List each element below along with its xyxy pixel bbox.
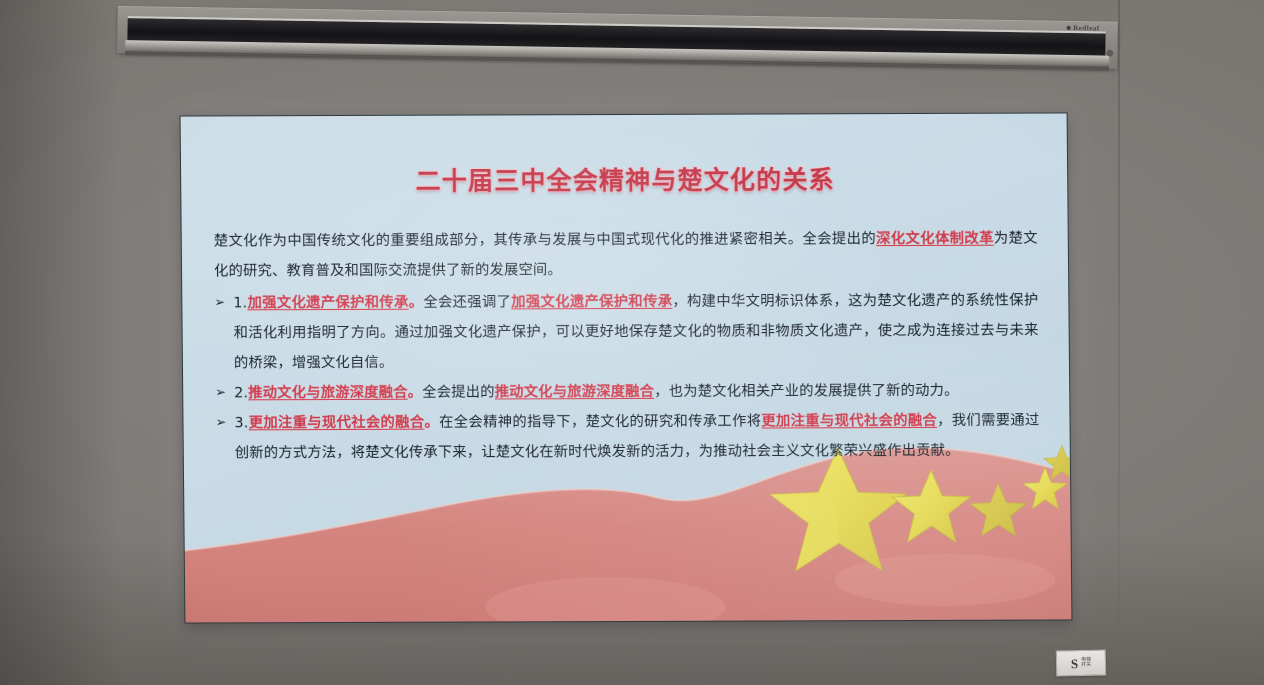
bullet-2-text: 2.推动文化与旅游深度融合。全会提出的推动文化与旅游深度融合，也为楚文化相关产业… — [234, 376, 1039, 409]
arrow-bullet-icon: ➢ — [215, 378, 234, 408]
intro-highlight: 深化文化体制改革 — [876, 231, 994, 247]
sticker-mini-bottom: 开关 — [1081, 662, 1091, 668]
bullet-2-number: 2. — [234, 385, 248, 401]
bullet-3-text: 3.更加注重与现代社会的融合。在全会精神的指导下，楚文化的研究和传承工作将更加注… — [234, 406, 1040, 469]
slide-title: 二十届三中全会精神与楚文化的关系 — [213, 160, 1037, 199]
sticker-mini-text: 电梯 开关 — [1081, 658, 1091, 669]
slide-text-block: 楚文化作为中国传统文化的重要组成部分，其传承与发展与中国式现代化的推进紧密相关。… — [214, 224, 1040, 469]
intro-paragraph: 楚文化作为中国传统文化的重要组成部分，其传承与发展与中国式现代化的推进紧密相关。… — [214, 224, 1039, 287]
bullet-1-text: 1.加强文化遗产保护和传承。全会还强调了加强文化遗产保护和传承，构建中华文明标识… — [233, 286, 1039, 379]
projector-screen-housing[interactable]: Redleaf — [117, 0, 1118, 82]
bullet-3-number: 3. — [234, 415, 248, 431]
housing-end-knob[interactable] — [1106, 50, 1113, 57]
classroom-wall: Redleaf S 电梯 开关 — [0, 0, 1264, 685]
bullet-2-body-a: 全会提出的 — [422, 384, 495, 400]
wall-sticker-label: S 电梯 开关 — [1056, 649, 1107, 676]
bullet-1-sep: 。 — [409, 295, 424, 311]
projected-slide: 二十届三中全会精神与楚文化的关系 楚文化作为中国传统文化的重要组成部分，其传承与… — [180, 112, 1073, 623]
arrow-bullet-icon: ➢ — [215, 408, 234, 438]
bullet-2-inline-highlight: 推动文化与旅游深度融合 — [495, 384, 655, 401]
bullet-2-body-b: ，也为楚文化相关产业的发展提供了新的动力。 — [654, 383, 959, 400]
bullet-3-inline-highlight: 更加注重与现代社会的融合 — [761, 413, 937, 430]
brand-dot-icon — [1066, 26, 1070, 30]
bullet-3-sep: 。 — [424, 415, 439, 431]
slide-canvas: 二十届三中全会精神与楚文化的关系 楚文化作为中国传统文化的重要组成部分，其传承与… — [180, 112, 1073, 623]
slide-body: 二十届三中全会精神与楚文化的关系 楚文化作为中国传统文化的重要组成部分，其传承与… — [181, 113, 1070, 468]
arrow-bullet-icon: ➢ — [214, 288, 233, 318]
list-item: ➢ 3.更加注重与现代社会的融合。在全会精神的指导下，楚文化的研究和传承工作将更… — [215, 406, 1040, 469]
sticker-logo-icon: S — [1071, 657, 1079, 670]
bullet-1-heading: 加强文化遗产保护和传承 — [247, 295, 408, 312]
bullet-1-body-a: 全会还强调了 — [423, 294, 511, 310]
intro-lead: 楚文化作为中国传统文化的重要组成部分，其传承与发展与中国式现代化的推进紧密相关。… — [214, 231, 876, 249]
bullet-2-sep: 。 — [408, 385, 423, 401]
bullet-2-heading: 推动文化与旅游深度融合 — [248, 385, 408, 402]
list-item: ➢ 2.推动文化与旅游深度融合。全会提出的推动文化与旅游深度融合，也为楚文化相关… — [215, 376, 1039, 409]
bullet-3-heading: 更加注重与现代社会的融合 — [248, 415, 424, 432]
bullet-1-inline-highlight: 加强文化遗产保护和传承 — [511, 294, 672, 311]
bullet-3-body-a: 在全会精神的指导下，楚文化的研究和传承工作将 — [439, 414, 761, 431]
bullet-1-number: 1. — [233, 295, 247, 311]
list-item: ➢ 1.加强文化遗产保护和传承。全会还强调了加强文化遗产保护和传承，构建中华文明… — [214, 286, 1039, 379]
